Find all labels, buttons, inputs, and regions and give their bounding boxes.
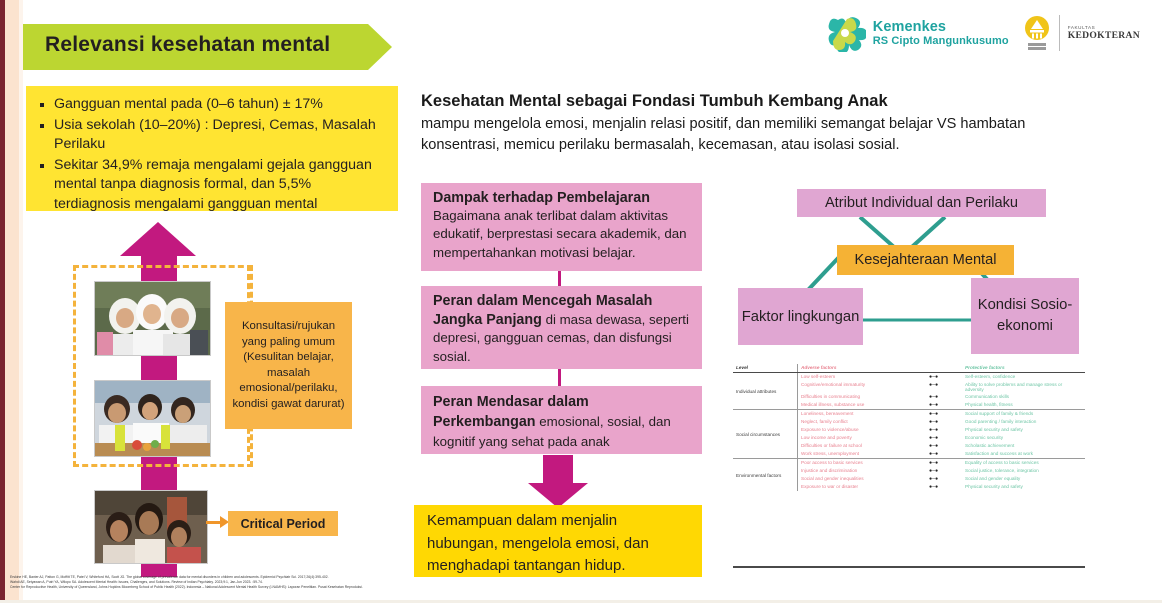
outcome-box: Kemampuan dalam menjalin hubungan, menge…	[414, 505, 702, 577]
table-cell-protective: Physical security and safety	[962, 426, 1085, 434]
table-cell-arrow-icon: ●–●	[926, 450, 962, 459]
table-cell-arrow-icon: ●–●	[926, 483, 962, 491]
table-cell-protective: Satisfaction and success at work	[962, 450, 1085, 459]
column-header-adverse: Adverse factors	[798, 364, 927, 373]
photo-students-hijab	[94, 281, 211, 356]
downward-arrow-body	[543, 455, 573, 485]
table-cell-adverse: Cognitive/emotional immaturity	[798, 381, 927, 393]
impact-box-development: Peran Mendasar dalam Perkembangan emosio…	[421, 386, 702, 454]
table-cell-protective: Economic security	[962, 434, 1085, 442]
table-cell-adverse: Loneliness, bereavement	[798, 410, 927, 419]
makara-icon	[1023, 14, 1051, 52]
slide-root: Relevansi kesehatan mental Kemenkes RS C…	[0, 0, 1162, 603]
table-cell-protective: Self-esteem, confidence	[962, 373, 1085, 382]
diagram-node-individual-attributes: Atribut Individual dan Perilaku	[797, 189, 1046, 217]
table-cell-adverse: Poor access to basic services	[798, 459, 927, 468]
diagram-node-socioeconomic: Kondisi Sosio-ekonomi	[971, 278, 1079, 354]
statistics-box: Gangguan mental pada (0–6 tahun) ± 17% U…	[26, 86, 398, 211]
chain-connector-1	[558, 271, 561, 286]
chain-connector-2	[558, 369, 561, 386]
table-cell-arrow-icon: ●–●	[926, 467, 962, 475]
impact-box-learning-title: Dampak terhadap Pembelajaran	[433, 190, 650, 206]
table-cell-protective: Scholastic achievement	[962, 442, 1085, 450]
table-cell-adverse: Work stress, unemployment	[798, 450, 927, 459]
table-cell-adverse: Medical illness, substance use	[798, 401, 927, 410]
footnote-references: Erskine HE, Baxter AJ, Patton G, Moffitt…	[10, 575, 710, 591]
table-cell-level: Environmental factors	[733, 459, 798, 492]
page-title: Relevansi kesehatan mental	[45, 33, 375, 57]
column-header-arrow	[926, 364, 962, 373]
list-item: Sekitar 34,9% remaja mengalami gejala ga…	[54, 156, 388, 215]
table-cell-protective: Ability to solve problems and manage str…	[962, 381, 1085, 393]
table-row: Environmental factorsPoor access to basi…	[733, 459, 1085, 468]
photo-illustration	[95, 282, 210, 355]
table-cell-level: Individual attributes	[733, 373, 798, 410]
impact-box-learning-body: Bagaimana anak terlibat dalam aktivitas …	[433, 208, 687, 259]
table-cell-adverse: Low self-esteem	[798, 373, 927, 382]
ui-faculty-name: KEDOKTERAN	[1068, 30, 1140, 42]
table-cell-arrow-icon: ●–●	[926, 459, 962, 468]
kemenkes-logo: Kemenkes RS Cipto Mangunkusumo	[826, 14, 1009, 52]
logo-divider	[1059, 15, 1060, 51]
kemenkes-hospital-name: RS Cipto Mangunkusumo	[873, 35, 1009, 47]
table-cell-protective: Physical security and safety	[962, 483, 1085, 491]
table-cell-adverse: Injustice and discrimination	[798, 467, 927, 475]
who-risk-protective-table: Level Adverse factors Protective factors…	[733, 364, 1085, 569]
column-header-level: Level	[733, 364, 798, 373]
table-cell-adverse: Low income and poverty	[798, 434, 927, 442]
left-edge-cream-band	[5, 0, 19, 603]
table-cell-adverse: Exposure to violence/abuse	[798, 426, 927, 434]
table-cell-arrow-icon: ●–●	[926, 381, 962, 393]
ui-fk-wordmark: FAKULTAS KEDOKTERAN	[1068, 25, 1140, 42]
table-cell-arrow-icon: ●–●	[926, 401, 962, 410]
table-cell-protective: Communication skills	[962, 393, 1085, 401]
footnote-line-3: Center for Reproductive Health, Universi…	[10, 585, 710, 590]
table-cell-protective: Physical health, fitness	[962, 401, 1085, 410]
table-bottom-rule	[733, 566, 1085, 568]
risk-factors-table: Level Adverse factors Protective factors…	[733, 364, 1085, 491]
table-header-row: Level Adverse factors Protective factors	[733, 364, 1085, 373]
kemenkes-name: Kemenkes	[873, 19, 1009, 35]
table-cell-arrow-icon: ●–●	[926, 426, 962, 434]
ui-fk-logo: FAKULTAS KEDOKTERAN	[1023, 14, 1140, 52]
photo-children-outdoor	[94, 490, 208, 564]
table-cell-arrow-icon: ●–●	[926, 418, 962, 426]
photo-illustration	[95, 491, 207, 563]
impact-box-learning: Dampak terhadap Pembelajaran Bagaimana a…	[421, 183, 702, 271]
table-cell-protective: Good parenting / family interaction	[962, 418, 1085, 426]
table-body: Individual attributesLow self-esteem●–●S…	[733, 373, 1085, 492]
table-cell-adverse: Difficulties in communicating	[798, 393, 927, 401]
table-cell-adverse: Difficulties or failure at school	[798, 442, 927, 450]
callout-critical-period: Critical Period	[228, 511, 338, 536]
list-item: Gangguan mental pada (0–6 tahun) ± 17%	[54, 95, 388, 115]
kemenkes-flower-icon	[826, 14, 866, 52]
photo-illustration	[95, 381, 210, 456]
diagram-node-environmental-factor: Faktor lingkungan	[738, 288, 863, 345]
table-cell-protective: Social support of family & friends	[962, 410, 1085, 419]
table-cell-protective: Equality of access to basic services	[962, 459, 1085, 468]
list-item: Usia sekolah (10–20%) : Depresi, Cemas, …	[54, 116, 388, 155]
table-cell-arrow-icon: ●–●	[926, 475, 962, 483]
table-cell-adverse: Neglect, family conflict	[798, 418, 927, 426]
table-cell-level: Social circumstances	[733, 410, 798, 459]
logo-group: Kemenkes RS Cipto Mangunkusumo FAKULTAS …	[826, 8, 1140, 58]
table-cell-protective: Social and gender equality	[962, 475, 1085, 483]
table-cell-adverse: Social and gender inequalities	[798, 475, 927, 483]
table-cell-arrow-icon: ●–●	[926, 393, 962, 401]
table-cell-arrow-icon: ●–●	[926, 410, 962, 419]
kemenkes-wordmark: Kemenkes RS Cipto Mangunkusumo	[873, 19, 1009, 48]
left-edge-cream-band-2	[19, 0, 23, 603]
table-cell-arrow-icon: ●–●	[926, 373, 962, 382]
diagram-node-mental-wellbeing: Kesejahteraan Mental	[837, 245, 1014, 275]
column-header-protective: Protective factors	[962, 364, 1085, 373]
table-cell-arrow-icon: ●–●	[926, 442, 962, 450]
photo-students-classroom	[94, 380, 211, 457]
table-cell-protective: Social justice, tolerance, integration	[962, 467, 1085, 475]
impact-box-prevention: Peran dalam Mencegah Masalah Jangka Panj…	[421, 286, 702, 369]
table-cell-adverse: Exposure to war or disaster	[798, 483, 927, 491]
table-cell-arrow-icon: ●–●	[926, 434, 962, 442]
statistics-list: Gangguan mental pada (0–6 tahun) ± 17% U…	[26, 86, 398, 214]
upward-arrow-head	[120, 222, 196, 256]
section-title: Kesehatan Mental sebagai Fondasi Tumbuh …	[421, 92, 1061, 111]
table-row: Social circumstancesLoneliness, bereavem…	[733, 410, 1085, 419]
section-subtitle: mampu mengelola emosi, menjalin relasi p…	[421, 114, 1076, 156]
callout-consultation: Konsultasi/rujukan yang paling umum (Kes…	[225, 302, 352, 429]
table-row: Individual attributesLow self-esteem●–●S…	[733, 373, 1085, 382]
